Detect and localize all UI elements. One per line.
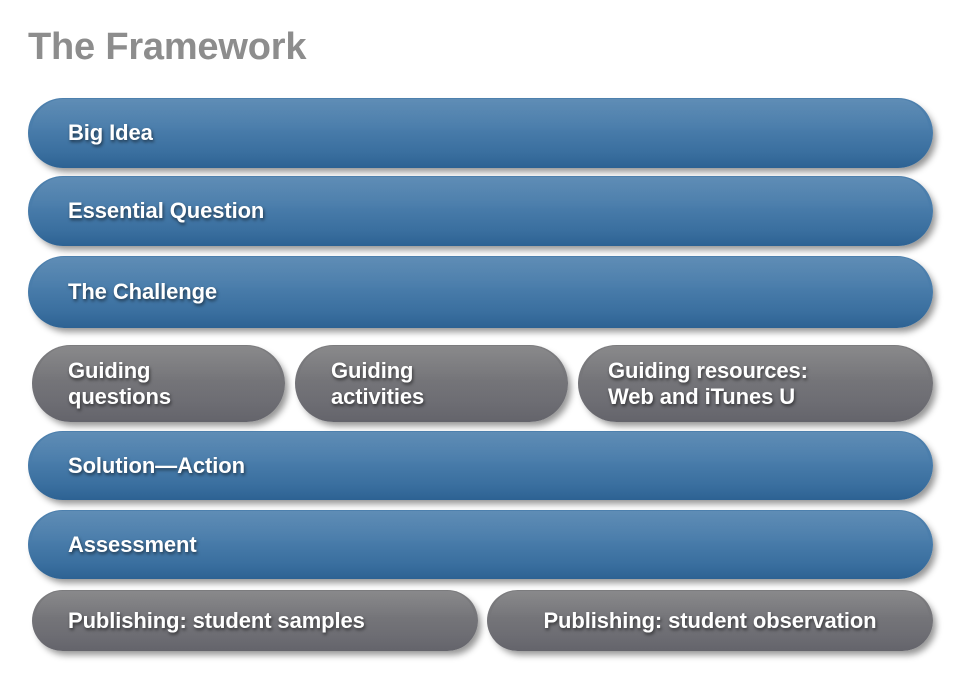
framework-bar-label: Solution—Action — [68, 453, 245, 479]
page-title: The Framework — [28, 24, 306, 70]
framework-pill-publishing-student-samples[interactable]: Publishing: student samples — [32, 590, 478, 651]
framework-pill-label: Guiding questions — [68, 358, 171, 410]
framework-pill-guiding-questions[interactable]: Guiding questions — [32, 345, 285, 422]
framework-bar-big-idea[interactable]: Big Idea — [28, 98, 933, 168]
framework-bar-solution-action[interactable]: Solution—Action — [28, 431, 933, 500]
framework-pill-label: Publishing: student observation — [543, 608, 876, 634]
framework-pill-label: Guiding resources: Web and iTunes U — [608, 358, 808, 410]
framework-slide: The Framework Big Idea Essential Questio… — [0, 0, 966, 696]
framework-pill-label: Publishing: student samples — [68, 608, 365, 634]
framework-pill-guiding-activities[interactable]: Guiding activities — [295, 345, 568, 422]
framework-bar-label: The Challenge — [68, 279, 217, 305]
framework-bar-assessment[interactable]: Assessment — [28, 510, 933, 579]
framework-pill-guiding-resources[interactable]: Guiding resources: Web and iTunes U — [578, 345, 933, 422]
framework-bar-essential-question[interactable]: Essential Question — [28, 176, 933, 246]
framework-bar-label: Big Idea — [68, 120, 153, 146]
framework-pill-publishing-student-observation[interactable]: Publishing: student observation — [487, 590, 933, 651]
framework-bar-label: Essential Question — [68, 198, 264, 224]
framework-bar-label: Assessment — [68, 532, 197, 558]
framework-bar-the-challenge[interactable]: The Challenge — [28, 256, 933, 328]
framework-pill-label: Guiding activities — [331, 358, 424, 410]
